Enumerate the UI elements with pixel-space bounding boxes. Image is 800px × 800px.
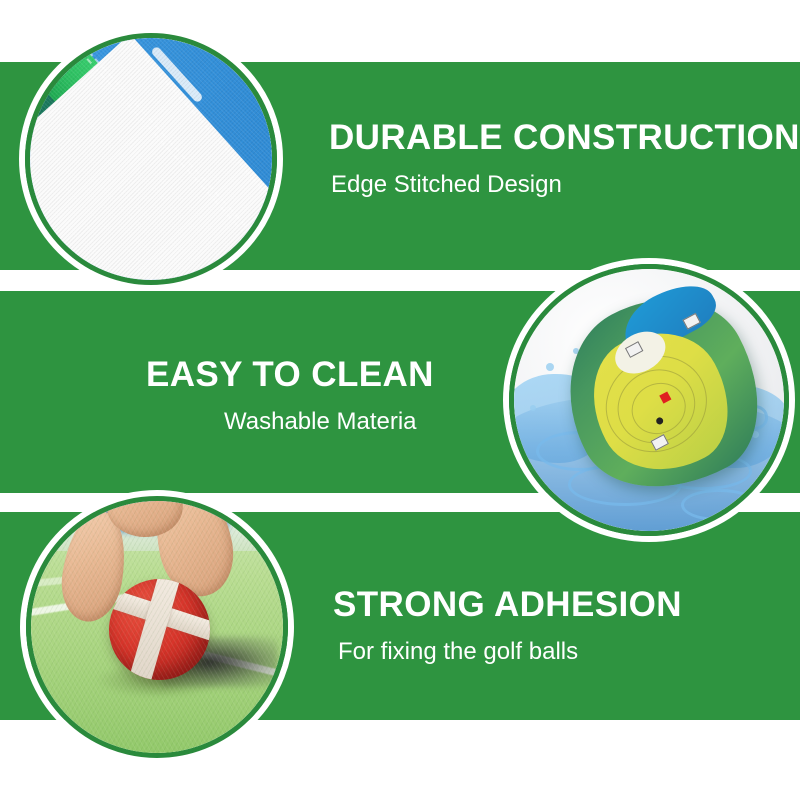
stitched-edge-closeup-photo (25, 33, 277, 285)
feature-headline: STRONG ADHESION (333, 585, 682, 625)
feature-subline: Edge Stitched Design (331, 170, 800, 200)
feature-text-easy-to-clean: EASY TO CLEAN Washable Materia (146, 355, 434, 437)
hand-placing-ball-photo (26, 496, 288, 758)
feature-subline: Washable Materia (224, 407, 434, 437)
feature-text-strong-adhesion: STRONG ADHESION For fixing the golf ball… (333, 585, 682, 667)
mat-in-water-splash-photo (509, 264, 789, 536)
feature-text-durable-construction: DURABLE CONSTRUCTION Edge Stitched Desig… (329, 118, 800, 200)
feature-subline: For fixing the golf balls (338, 637, 682, 667)
feature-headline: DURABLE CONSTRUCTION (329, 118, 800, 158)
feature-headline: EASY TO CLEAN (146, 355, 434, 395)
infographic-canvas: DURABLE CONSTRUCTION Edge Stitched Desig… (0, 0, 800, 800)
